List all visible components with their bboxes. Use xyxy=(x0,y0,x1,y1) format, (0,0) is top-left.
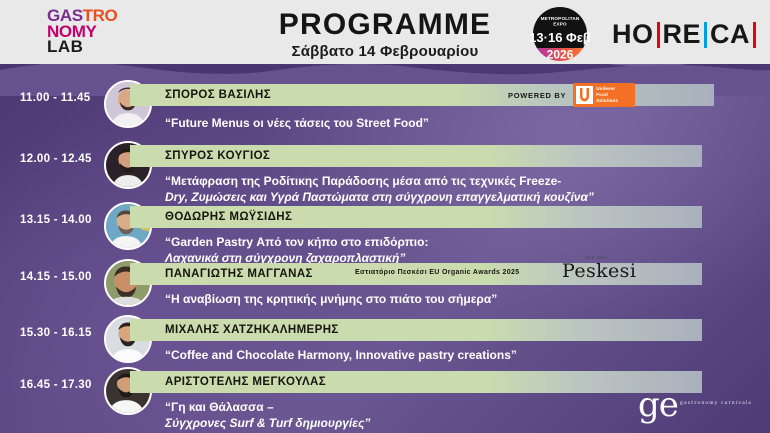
speaker-name: ΜΙΧΑΛΗΣ ΧΑΤΖΗΚΑΛΗΜΕΡΗΣ xyxy=(165,324,339,336)
session-talk: “Η αναβίωση της κρητικής μνήμης στο πιάτ… xyxy=(165,292,497,308)
session-talk: “Μετάφραση της Ροδίτικης Παράδοσης μέσα … xyxy=(165,174,594,206)
horeca-divider-icon xyxy=(657,22,660,48)
unilever-line-3: Solutions xyxy=(596,98,618,103)
talk-line-2: Σύγχρονες Surf & Turf δημιουργίες” xyxy=(165,416,370,432)
talk-line-1: “Coffee and Chocolate Harmony, Innovativ… xyxy=(165,348,517,364)
powered-by-label: POWERED BY xyxy=(508,91,566,100)
session-list: 11.00 - 11.45 ΣΠΟΡΟΣ ΒΑΣΙΛΗΣ POWERED BY xyxy=(0,64,770,433)
horeca-re: RE xyxy=(663,21,702,48)
horeca-divider-icon xyxy=(753,22,756,48)
session-time: 13.15 - 14.00 xyxy=(20,214,92,226)
talk-line-1: “Γη και Θάλασσα – xyxy=(165,400,370,416)
powered-by-block: POWERED BY Unilever Food Solutions xyxy=(508,83,635,107)
talk-line-1: “Μετάφραση της Ροδίτικης Παράδοσης μέσα … xyxy=(165,174,594,190)
session-time: 12.00 - 12.45 xyxy=(20,153,92,165)
unilever-wordmark: Unilever Food Solutions xyxy=(596,86,618,105)
speaker-name-bar: ΘΟΔΩΡΗΣ ΜΩΫΣΙΔΗΣ xyxy=(130,206,702,228)
session-talk: “Coffee and Chocolate Harmony, Innovativ… xyxy=(165,348,517,364)
svg-text:13·16 Φεβ: 13·16 Φεβ xyxy=(529,30,591,45)
speaker-name: ΑΡΙΣΤΟΤΕΛΗΣ ΜΕΓΚΟΥΛΑΣ xyxy=(165,376,326,388)
talk-line-2: Dry, Ζυμώσεις και Υγρά Παστώματα στη σύγ… xyxy=(165,190,594,206)
speaker-name: ΘΟΔΩΡΗΣ ΜΩΫΣΙΔΗΣ xyxy=(165,211,292,223)
gastronomy-carnivals-logo: ge gastronomy carnivals xyxy=(638,392,752,419)
speaker-name-bar: ΣΠΥΡΟΣ ΚΟΥΓΙΟΣ xyxy=(130,145,702,167)
talk-line-1: “Garden Pastry Από τον κήπο στο επιδόρπι… xyxy=(165,235,428,251)
session-time: 16.45 - 17.30 xyxy=(20,379,92,391)
svg-text:2026: 2026 xyxy=(547,48,574,62)
ge-tagline: gastronomy carnivals xyxy=(680,401,752,406)
session-talk: “Garden Pastry Από τον κήπο στο επιδόρπι… xyxy=(165,235,428,267)
talk-line-1: “Future Menus οι νέες τάσεις του Street … xyxy=(165,116,429,132)
session-talk: “Future Menus οι νέες τάσεις του Street … xyxy=(165,116,429,132)
horeca-logo: HO RE CA xyxy=(612,21,759,48)
session-talk: “Γη και Θάλασσα – Σύγχρονες Surf & Turf … xyxy=(165,400,370,432)
unilever-u-icon xyxy=(576,86,593,104)
metropolitan-expo-badge: METROPOLITAN EXPO 13·16 Φεβ 2026 xyxy=(521,6,599,62)
horeca-divider-icon xyxy=(704,22,707,48)
speaker-name-bar: ΑΡΙΣΤΟΤΕΛΗΣ ΜΕΓΚΟΥΛΑΣ xyxy=(130,371,702,393)
horeca-ca: CA xyxy=(710,21,750,48)
session-time: 14.15 - 15.00 xyxy=(20,271,92,283)
ge-monogram: ge xyxy=(638,392,678,419)
svg-text:METROPOLITAN: METROPOLITAN xyxy=(541,16,580,21)
svg-text:EXPO: EXPO xyxy=(553,22,567,27)
speaker-name: ΣΠΟΡΟΣ ΒΑΣΙΛΗΣ xyxy=(165,89,271,101)
speaker-name-bar: ΜΙΧΑΛΗΣ ΧΑΤΖΗΚΑΛΗΜΕΡΗΣ xyxy=(130,319,702,341)
session-time: 11.00 - 11.45 xyxy=(20,92,90,104)
unilever-line-2: Food xyxy=(596,92,608,97)
unilever-line-1: Unilever xyxy=(596,86,615,91)
session-time: 15.30 - 16.15 xyxy=(20,327,92,339)
partner-awards-note: Εστιατόριο Πεσκέσι EU Organic Awards 202… xyxy=(355,269,519,276)
horeca-ho: HO xyxy=(612,21,654,48)
speaker-name: ΣΠΥΡΟΣ ΚΟΥΓΙΟΣ xyxy=(165,150,270,162)
speaker-name: ΠΑΝΑΓΙΩΤΗΣ ΜΑΓΓΑΝΑΣ xyxy=(165,268,313,280)
unilever-food-solutions-logo: Unilever Food Solutions xyxy=(573,83,635,107)
programme-poster: GASTRO NOMY LAB PROGRAMME Σάββατο 14 Φεβ… xyxy=(0,0,770,433)
talk-line-1: “Η αναβίωση της κρητικής μνήμης στο πιάτ… xyxy=(165,292,497,308)
peskesi-logo: Peskesi xyxy=(562,260,636,282)
